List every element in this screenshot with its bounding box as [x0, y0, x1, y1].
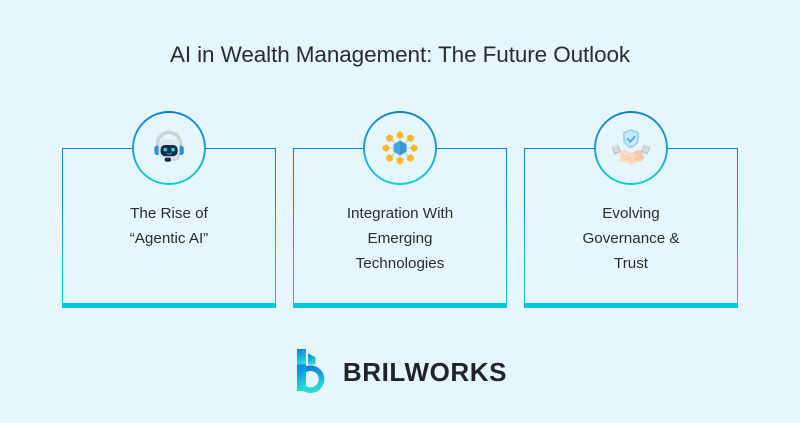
card-label-line: Emerging	[302, 226, 498, 251]
handshake-shield-check-icon	[608, 126, 654, 170]
card-label-line: Evolving	[533, 201, 729, 226]
brand-logo[interactable]: BRILWORKS	[0, 344, 800, 396]
infographic-root: AI in Wealth Management: The Future Outl…	[0, 0, 800, 423]
cards-row: The Rise of “Agentic AI”	[62, 148, 738, 303]
card-accent-bottom-bar	[293, 303, 508, 308]
card-label-line: Trust	[533, 251, 729, 276]
page-title: AI in Wealth Management: The Future Outl…	[0, 42, 800, 68]
robot-headset-icon	[147, 126, 191, 170]
card-right-edge	[275, 149, 277, 303]
card-label-1: The Rise of “Agentic AI”	[63, 201, 275, 251]
card-label-line: The Rise of	[71, 201, 267, 226]
card-label-line: Technologies	[302, 251, 498, 276]
card-integration-emerging-technologies[interactable]: Integration With Emerging Technologies	[293, 148, 507, 303]
card-label-line: Governance &	[533, 226, 729, 251]
icon-circle-2	[363, 111, 437, 185]
icon-circle-1	[132, 111, 206, 185]
icon-circle-3	[594, 111, 668, 185]
card-label-3: Evolving Governance & Trust	[525, 201, 737, 276]
card-accent-bottom-bar	[524, 303, 739, 308]
card-right-edge	[737, 149, 739, 303]
card-right-edge	[506, 149, 508, 303]
card-label-2: Integration With Emerging Technologies	[294, 201, 506, 276]
brand-wordmark: BRILWORKS	[343, 356, 507, 385]
brilworks-b-mark-icon	[293, 347, 331, 393]
card-label-line: “Agentic AI”	[71, 226, 267, 251]
network-hub-hexagon-icon	[378, 126, 422, 170]
card-rise-of-agentic-ai[interactable]: The Rise of “Agentic AI”	[62, 148, 276, 303]
card-evolving-governance-trust[interactable]: Evolving Governance & Trust	[524, 148, 738, 303]
card-accent-bottom-bar	[62, 303, 277, 308]
card-label-line: Integration With	[302, 201, 498, 226]
